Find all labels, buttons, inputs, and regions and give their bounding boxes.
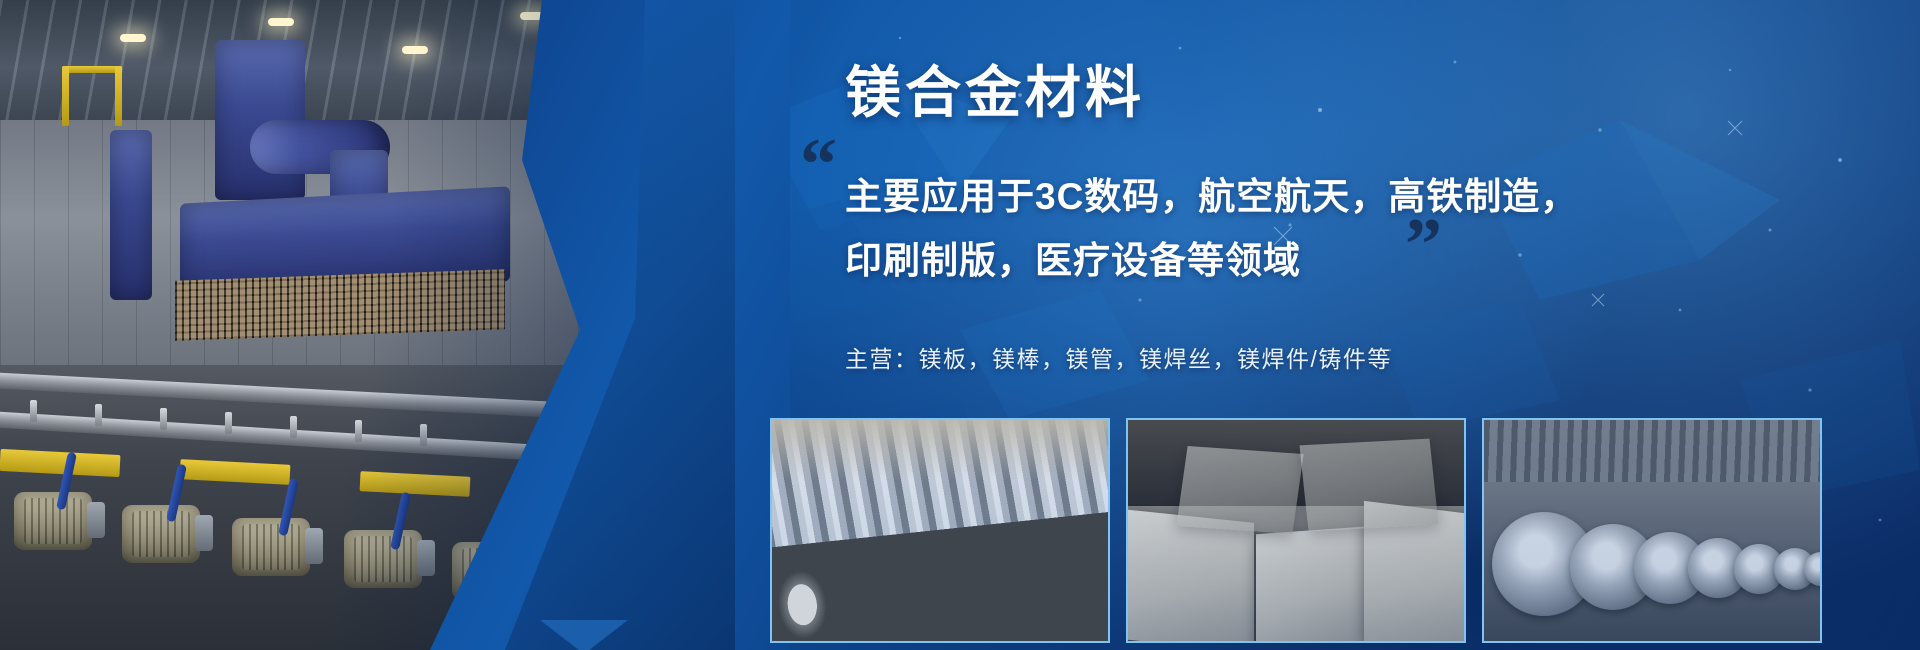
thumb-tint xyxy=(772,420,1108,641)
magnesium-coils-photo[interactable] xyxy=(1482,418,1822,643)
magnesium-bars-photo[interactable] xyxy=(770,418,1110,643)
subtitle-products: 主营：镁板，镁棒，镁管，镁焊丝，镁焊件/铸件等 xyxy=(845,340,1392,374)
product-banner: 镁合金材料 “ ” 主要应用于3C数码，航空航天，高铁制造， 印刷制版，医疗设备… xyxy=(0,0,1920,650)
plate xyxy=(1299,439,1438,532)
quote-open-icon: “ xyxy=(800,128,837,202)
lead-line-2: 印刷制版，医疗设备等领域 xyxy=(845,229,1625,293)
plate xyxy=(1176,446,1303,534)
lead-line-1: 主要应用于3C数码，航空航天，高铁制造， xyxy=(845,165,1625,229)
banner-content: 镁合金材料 “ ” 主要应用于3C数码，航空航天，高铁制造， 印刷制版，医疗设备… xyxy=(0,0,1920,650)
thumbnail-gallery xyxy=(770,418,1822,643)
lead-paragraph: 主要应用于3C数码，航空航天，高铁制造， 印刷制版，医疗设备等领域 xyxy=(845,165,1625,293)
page-title: 镁合金材料 xyxy=(845,48,1145,129)
magnesium-plates-photo[interactable] xyxy=(1126,418,1466,643)
warehouse-roof xyxy=(1484,420,1820,482)
plate xyxy=(1256,526,1376,643)
